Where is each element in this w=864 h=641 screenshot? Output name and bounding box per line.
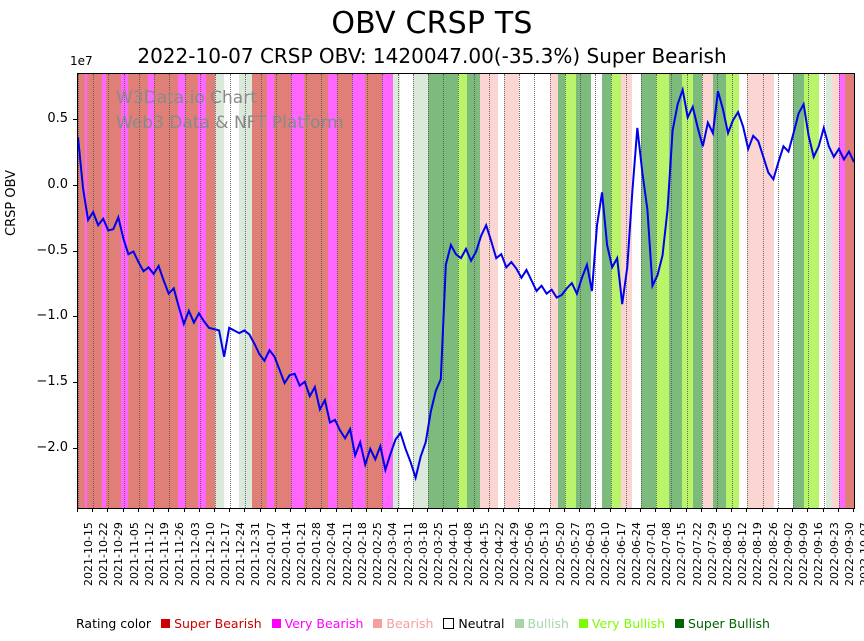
x-axis-tick-label: 2022-01-07 (265, 522, 278, 586)
x-axis-tick-mark (549, 508, 550, 512)
legend-swatch (675, 619, 684, 628)
x-axis-tick-label: 2022-06-10 (599, 522, 612, 586)
legend-label: Very Bearish (285, 616, 364, 631)
x-axis-tick-mark (655, 508, 656, 512)
x-axis-tick-mark (518, 508, 519, 512)
legend: Rating color Super BearishVery BearishBe… (76, 616, 780, 631)
x-axis-tick-mark (351, 508, 352, 512)
y-axis-ticks: 0.50.0−0.5−1.0−1.5−2.0 (0, 0, 77, 641)
x-axis-tick-mark (746, 508, 747, 512)
x-axis-tick-label: 2022-08-05 (721, 522, 734, 586)
y-axis-tick-label: −2.0 (22, 440, 68, 455)
x-axis-tick-mark (853, 508, 854, 512)
x-axis-tick-mark (427, 508, 428, 512)
x-axis-tick-label: 2022-09-16 (812, 522, 825, 586)
x-axis-tick-label: 2022-03-04 (386, 522, 399, 586)
x-axis-tick-label: 2021-12-10 (204, 522, 217, 586)
x-axis-tick-label: 2022-05-20 (554, 522, 567, 586)
chart-subtitle: 2022-10-07 CRSP OBV: 1420047.00(-35.3%) … (0, 44, 864, 68)
x-axis-tick-mark (199, 508, 200, 512)
x-axis-tick-mark (260, 508, 261, 512)
x-axis-tick-mark (640, 508, 641, 512)
x-axis-tick-mark (366, 508, 367, 512)
x-axis-tick-label: 2021-11-05 (128, 522, 141, 586)
x-axis-tick-mark (107, 508, 108, 512)
obv-line-series (78, 74, 854, 508)
x-axis-tick-mark (320, 508, 321, 512)
x-axis-tick-label: 2022-06-24 (630, 522, 643, 586)
obv-line (78, 90, 854, 478)
x-axis-tick-mark (731, 508, 732, 512)
x-axis-tick-label: 2022-08-12 (736, 522, 749, 586)
chart-page: OBV CRSP TS 2022-10-07 CRSP OBV: 1420047… (0, 0, 864, 641)
x-axis-tick-label: 2021-10-15 (82, 522, 95, 586)
x-axis-tick-mark (290, 508, 291, 512)
x-axis-tick-label: 2022-04-15 (478, 522, 491, 586)
legend-label: Very Bullish (592, 616, 665, 631)
legend-label: Super Bullish (688, 616, 770, 631)
x-axis-tick-label: 2022-07-29 (706, 522, 719, 586)
legend-item[interactable]: Neutral (443, 616, 504, 631)
legend-item[interactable]: Bearish (373, 616, 433, 631)
x-axis-tick-label: 2022-06-03 (584, 522, 597, 586)
x-axis-tick-mark (123, 508, 124, 512)
legend-item[interactable]: Super Bullish (675, 616, 770, 631)
x-axis-tick-label: 2022-05-13 (538, 522, 551, 586)
legend-label: Super Bearish (174, 616, 262, 631)
x-axis-tick-label: 2021-10-29 (112, 522, 125, 586)
x-axis-tick-label: 2022-03-25 (432, 522, 445, 586)
x-axis-tick-mark (457, 508, 458, 512)
x-axis-tick-label: 2022-07-22 (691, 522, 704, 586)
x-axis-tick-label: 2022-05-27 (569, 522, 582, 586)
y-axis-tick-label: 0.5 (22, 111, 68, 126)
legend-label: Bearish (386, 616, 433, 631)
x-axis-tick-label: 2022-07-01 (645, 522, 658, 586)
y-axis-tick-label: −1.0 (22, 308, 68, 323)
x-axis-tick-mark (381, 508, 382, 512)
x-axis-tick-label: 2022-03-11 (402, 522, 415, 586)
x-axis-tick-mark (214, 508, 215, 512)
x-axis-tick-label: 2022-10-07 (858, 522, 864, 586)
legend-title: Rating color (76, 616, 151, 631)
gridline (854, 74, 855, 508)
x-axis-tick-label: 2022-02-18 (356, 522, 369, 586)
x-axis-tick-label: 2022-08-19 (751, 522, 764, 586)
x-axis-tick-label: 2021-10-22 (97, 522, 110, 586)
x-axis-tick-mark (153, 508, 154, 512)
legend-swatch (515, 619, 524, 628)
x-axis-tick-mark (807, 508, 808, 512)
y-axis-tick-label: 0.0 (22, 177, 68, 192)
x-axis-tick-label: 2021-12-24 (234, 522, 247, 586)
x-axis-tick-mark (229, 508, 230, 512)
x-axis-tick-label: 2021-11-26 (173, 522, 186, 586)
legend-label: Neutral (458, 616, 504, 631)
x-axis-tick-label: 2022-04-01 (447, 522, 460, 586)
x-axis-tick-mark (503, 508, 504, 512)
x-axis-tick-label: 2022-05-06 (523, 522, 536, 586)
legend-swatch (373, 619, 382, 628)
x-axis-tick-mark (244, 508, 245, 512)
x-axis-tick-label: 2021-12-17 (219, 522, 232, 586)
x-axis-tick-mark (625, 508, 626, 512)
x-axis-tick-mark (533, 508, 534, 512)
x-axis-tick-mark (275, 508, 276, 512)
x-axis-tick-mark (336, 508, 337, 512)
x-axis-tick-label: 2022-01-28 (310, 522, 323, 586)
x-axis-tick-mark (762, 508, 763, 512)
x-axis-tick-mark (77, 508, 78, 512)
x-axis-tick-label: 2021-11-12 (143, 522, 156, 586)
x-axis-tick-mark (564, 508, 565, 512)
legend-item[interactable]: Very Bearish (272, 616, 364, 631)
x-axis-tick-mark (716, 508, 717, 512)
x-axis-tick-mark (823, 508, 824, 512)
x-axis-tick-mark (610, 508, 611, 512)
chart-title: OBV CRSP TS (0, 6, 864, 41)
x-axis-tick-label: 2022-08-26 (767, 522, 780, 586)
x-axis-tick-label: 2022-07-08 (660, 522, 673, 586)
x-axis-tick-mark (777, 508, 778, 512)
x-axis-tick-label: 2021-11-19 (158, 522, 171, 586)
x-axis-tick-mark (92, 508, 93, 512)
legend-item[interactable]: Super Bearish (161, 616, 262, 631)
x-axis-tick-label: 2022-01-21 (295, 522, 308, 586)
x-axis-tick-label: 2022-04-08 (462, 522, 475, 586)
x-axis-tick-mark (138, 508, 139, 512)
x-axis-tick-mark (670, 508, 671, 512)
legend-swatch (272, 619, 281, 628)
x-axis-tick-label: 2021-12-31 (249, 522, 262, 586)
x-axis-tick-mark (686, 508, 687, 512)
x-axis-tick-label: 2022-02-04 (325, 522, 338, 586)
y-axis-tick-label: −1.5 (22, 374, 68, 389)
x-axis-tick-label: 2022-09-23 (828, 522, 841, 586)
legend-swatch (443, 618, 454, 629)
plot-area: W3Data.io ChartWeb3 Data & NFT Platform (77, 73, 855, 509)
x-axis-tick-label: 2022-02-11 (341, 522, 354, 586)
x-axis-tick-label: 2022-07-15 (675, 522, 688, 586)
legend-item[interactable]: Bullish (515, 616, 569, 631)
x-axis-tick-mark (397, 508, 398, 512)
x-axis-tick-label: 2022-09-30 (843, 522, 856, 586)
x-axis-tick-label: 2022-02-25 (371, 522, 384, 586)
x-axis-tick-label: 2021-12-03 (189, 522, 202, 586)
x-axis-tick-label: 2022-04-22 (493, 522, 506, 586)
x-axis-tick-label: 2022-06-17 (615, 522, 628, 586)
x-axis-tick-mark (473, 508, 474, 512)
x-axis-tick-mark (168, 508, 169, 512)
y-axis-tick-label: −0.5 (22, 243, 68, 258)
x-axis-tick-mark (488, 508, 489, 512)
x-axis-tick-mark (701, 508, 702, 512)
legend-swatch (579, 619, 588, 628)
legend-swatch (161, 619, 170, 628)
x-axis-tick-label: 2022-04-29 (508, 522, 521, 586)
x-axis-tick-mark (412, 508, 413, 512)
x-axis-tick-label: 2022-09-02 (782, 522, 795, 586)
x-axis-tick-mark (305, 508, 306, 512)
x-axis-tick-mark (442, 508, 443, 512)
x-axis-tick-label: 2022-03-18 (417, 522, 430, 586)
x-axis-tick-label: 2022-09-09 (797, 522, 810, 586)
x-axis-tick-mark (792, 508, 793, 512)
legend-item[interactable]: Very Bullish (579, 616, 665, 631)
legend-label: Bullish (528, 616, 569, 631)
x-axis-tick-mark (594, 508, 595, 512)
x-axis-tick-mark (838, 508, 839, 512)
x-axis-tick-label: 2022-01-14 (280, 522, 293, 586)
x-axis-tick-mark (579, 508, 580, 512)
x-axis-ticks: 2021-10-152021-10-222021-10-292021-11-05… (77, 508, 855, 608)
x-axis-tick-mark (184, 508, 185, 512)
